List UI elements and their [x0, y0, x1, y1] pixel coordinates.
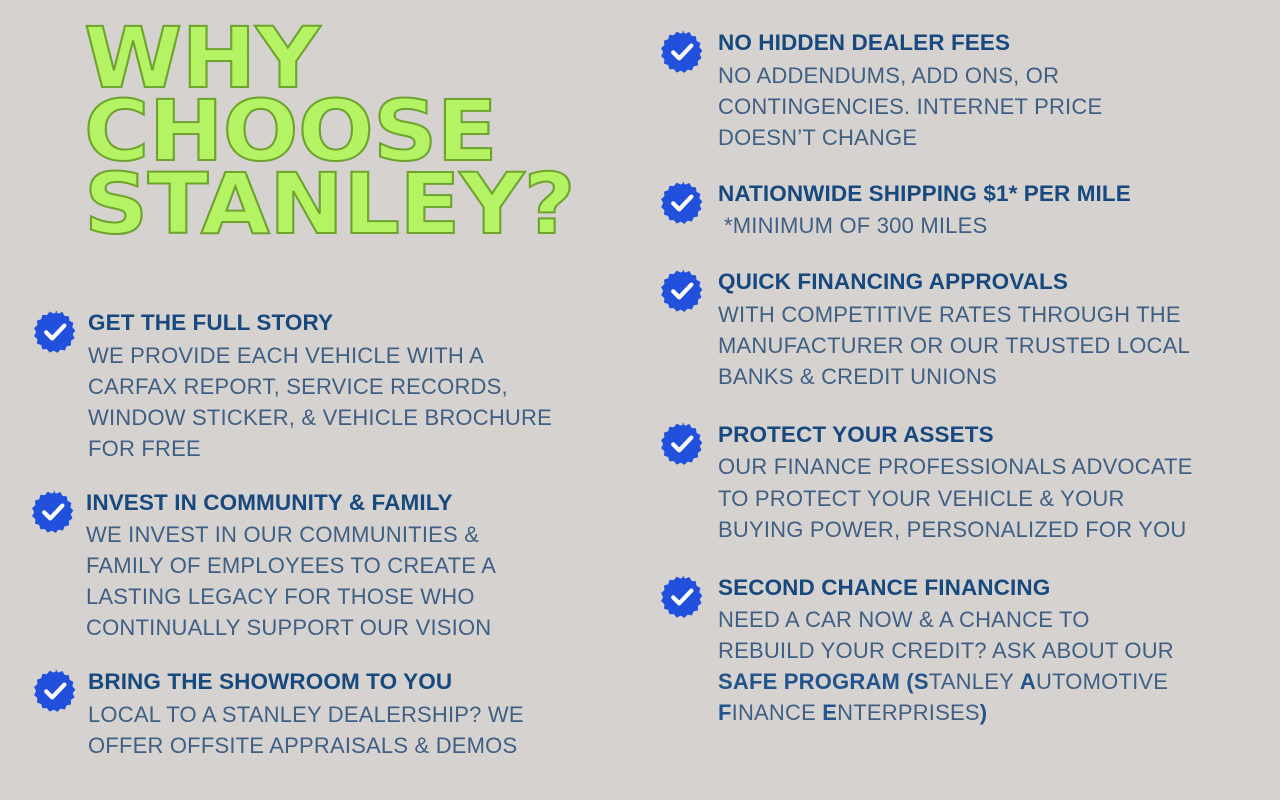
- list-item-body: OUR FINANCE PROFESSIONALS ADVOCATE TO PR…: [718, 451, 1270, 544]
- check-badge-icon: [660, 30, 704, 74]
- body-line-1: NEED A CAR NOW & A CHANCE TO: [718, 607, 1090, 632]
- check-badge-icon: [660, 575, 704, 619]
- list-item-title: GET THE FULL STORY: [88, 308, 630, 339]
- list-item: GET THE FULL STORY WE PROVIDE EACH VEHIC…: [30, 308, 630, 464]
- safe-program-bold-2: A: [1020, 669, 1036, 694]
- check-badge-icon: [660, 269, 704, 313]
- safe-program-plain-1: TANLEY: [929, 669, 1020, 694]
- list-item-title: BRING THE SHOWROOM TO YOU: [88, 667, 630, 698]
- safe-program-plain-3: INANCE: [732, 700, 823, 725]
- safe-program-plain-2: UTOMOTIVE: [1036, 669, 1168, 694]
- safe-program-bold-4: E: [822, 700, 837, 725]
- safe-program-bold-5: ): [980, 700, 988, 725]
- body-line-2: REBUILD YOUR CREDIT? ASK ABOUT OUR: [718, 638, 1174, 663]
- safe-program-bold-1: SAFE PROGRAM (S: [718, 669, 929, 694]
- list-item: QUICK FINANCING APPROVALS WITH COMPETITI…: [658, 267, 1270, 392]
- list-item-title: NATIONWIDE SHIPPING $1* PER MILE: [718, 179, 1270, 210]
- check-badge-icon: [31, 490, 75, 534]
- safe-program-plain-4: NTERPRISES: [837, 700, 980, 725]
- list-item: NATIONWIDE SHIPPING $1* PER MILE *MINIMU…: [658, 179, 1270, 242]
- list-item-body: NEED A CAR NOW & A CHANCE TOREBUILD YOUR…: [718, 604, 1270, 728]
- right-column-items: NO HIDDEN DEALER FEES NO ADDENDUMS, ADD …: [658, 28, 1270, 728]
- page-title: WHY CHOOSE STANLEY?: [84, 22, 656, 241]
- check-badge-icon: [660, 422, 704, 466]
- left-column-items: GET THE FULL STORY WE PROVIDE EACH VEHIC…: [30, 308, 630, 761]
- check-badge-icon: [33, 310, 77, 354]
- check-badge-icon: [660, 181, 704, 225]
- list-item: NO HIDDEN DEALER FEES NO ADDENDUMS, ADD …: [658, 28, 1270, 153]
- list-item: PROTECT YOUR ASSETS OUR FINANCE PROFESSI…: [658, 420, 1270, 545]
- list-item-body: WITH COMPETITIVE RATES THROUGH THE MANUF…: [718, 299, 1270, 392]
- list-item-title: NO HIDDEN DEALER FEES: [718, 28, 1270, 59]
- list-item: SECOND CHANCE FINANCING NEED A CAR NOW &…: [658, 573, 1270, 729]
- why-choose-stanley-poster: WHY CHOOSE STANLEY? GET THE FULL STORY W…: [0, 0, 1280, 800]
- list-item-body: WE PROVIDE EACH VEHICLE WITH A CARFAX RE…: [88, 340, 630, 464]
- list-item-body: WE INVEST IN OUR COMMUNITIES & FAMILY OF…: [86, 519, 630, 643]
- list-item-note: *MINIMUM OF 300 MILES: [718, 210, 1270, 241]
- list-item: INVEST IN COMMUNITY & FAMILY WE INVEST I…: [30, 488, 630, 644]
- list-item: BRING THE SHOWROOM TO YOU LOCAL TO A STA…: [30, 667, 630, 761]
- list-item-title: SECOND CHANCE FINANCING: [718, 573, 1270, 604]
- list-item-title: QUICK FINANCING APPROVALS: [718, 267, 1270, 298]
- list-item-title: PROTECT YOUR ASSETS: [718, 420, 1270, 451]
- list-item-body: LOCAL TO A STANLEY DEALERSHIP? WE OFFER …: [88, 699, 630, 761]
- list-item-body: NO ADDENDUMS, ADD ONS, OR CONTINGENCIES.…: [718, 60, 1270, 153]
- safe-program-bold-3: F: [718, 700, 732, 725]
- list-item-title: INVEST IN COMMUNITY & FAMILY: [86, 488, 630, 519]
- check-badge-icon: [33, 669, 77, 713]
